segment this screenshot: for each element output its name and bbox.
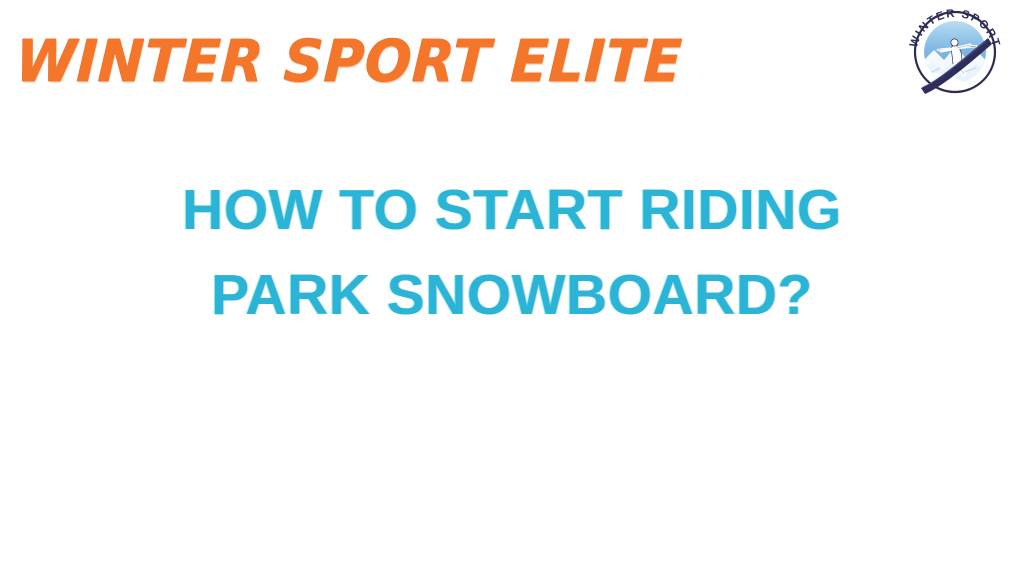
brand-wordmark-text: WINTER SPORT ELITE [15,32,684,90]
brand-wordmark: WINTER SPORT ELITE [16,20,616,102]
headline-line-2: PARK SNOWBOARD? [0,253,1024,338]
slide-canvas: WINTER SPORT ELITE [0,0,1024,576]
headline-block: HOW TO START RIDING PARK SNOWBOARD? [0,168,1024,338]
winter-sport-badge-logo: WINTER SPORT [906,2,1004,100]
headline-line-1: HOW TO START RIDING [0,168,1024,253]
